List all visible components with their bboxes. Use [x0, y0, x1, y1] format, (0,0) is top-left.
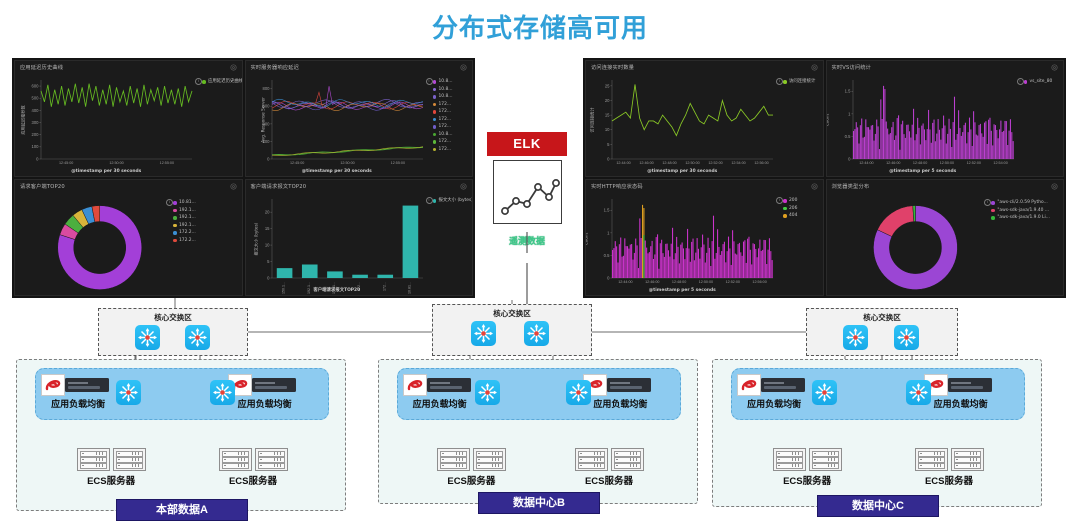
legend-item[interactable]: 172...: [433, 101, 453, 109]
svg-text:0: 0: [607, 156, 610, 161]
elk-chart-icon: [493, 160, 562, 224]
network-switch-icon[interactable]: [185, 325, 210, 350]
load-balancer[interactable]: 应用负载均衡: [403, 374, 477, 410]
svg-text:5: 5: [267, 259, 270, 264]
legend-item[interactable]: 206: [783, 205, 797, 213]
legend-label: 172...: [439, 116, 452, 124]
y-axis-label: Count: [826, 113, 830, 125]
plot-area: 010020030040050060012:45:0012:50:0012:55…: [15, 74, 242, 176]
legend-color-dot: [433, 80, 437, 84]
legend-color-dot: [783, 207, 787, 211]
legend-color-dot: [433, 95, 437, 99]
svg-text:12:44:00: 12:44:00: [618, 280, 632, 284]
legend-label: 172.2...: [179, 237, 196, 245]
legend-color-dot: [173, 216, 177, 220]
svg-text:12:55:00: 12:55:00: [160, 161, 174, 165]
elk-node[interactable]: ELK 遥测数据: [487, 132, 567, 232]
line-series: [612, 84, 773, 135]
ecs-server-group[interactable]: ECS服务器: [769, 448, 845, 487]
network-switch-icon[interactable]: [894, 325, 919, 350]
plot-area: 051015202512:44:0012:46:0012:48:0012:50:…: [586, 74, 823, 176]
legend-info-icon[interactable]: i: [776, 197, 783, 204]
chart-panel[interactable]: 实时VS访问统计00.511.512:44:0012:46:0012:48:00…: [826, 60, 1065, 177]
server-rack-icon: [219, 448, 252, 471]
svg-text:300: 300: [32, 120, 40, 125]
load-balancer-label: 应用负载均衡: [924, 397, 998, 410]
load-balancer[interactable]: 应用负载均衡: [41, 374, 115, 410]
x-axis-label: @timestamp per 5 seconds: [600, 288, 765, 293]
legend-info-icon[interactable]: i: [166, 199, 173, 206]
svg-text:1: 1: [607, 230, 610, 235]
chart-panel[interactable]: 客户端请求报文TOP2005101520150.1...192.1...192.…: [245, 179, 474, 296]
svg-text:12:46:00: 12:46:00: [645, 280, 659, 284]
legend-color-dot: [433, 118, 437, 122]
svg-text:12:52:00: 12:52:00: [708, 161, 722, 165]
ecs-server-label: ECS服务器: [73, 473, 149, 487]
x-axis-label: @timestamp per 30 seconds: [600, 169, 765, 174]
legend-item[interactable]: "aws-sdk-java/1.9.40 ...: [991, 207, 1049, 215]
plot-area: i"aws-cli/2.0.59 Pytho..."aws-sdk-java/1…: [827, 193, 1064, 295]
elk-caption: 遥测数据: [487, 234, 567, 247]
core-switch-zone-label: 核心交换区: [99, 312, 247, 323]
gear-icon[interactable]: [230, 64, 237, 71]
core-switch-zone[interactable]: 核心交换区: [806, 308, 958, 356]
panel-title: 实时服务器响应延迟: [251, 64, 300, 71]
svg-text:400: 400: [32, 108, 40, 113]
server-rack-icon: [473, 448, 506, 471]
legend-color-dot: [783, 214, 787, 218]
bar: [377, 275, 393, 278]
legend-item[interactable]: 192.1...: [173, 222, 196, 230]
legend-label: 应用延迟历史曲线: [208, 78, 243, 86]
core-switch-zone-label: 核心交换区: [807, 312, 957, 323]
datacenter-label: 数据中心B: [478, 492, 600, 514]
datacenter[interactable]: 应用负载均衡应用负载均衡ECS服务器ECS服务器: [378, 359, 698, 504]
bar: [327, 271, 343, 278]
panel-title: 实时VS访问统计: [832, 64, 872, 71]
server-rack-icon: [773, 448, 806, 471]
load-balancer-icon: [403, 374, 427, 396]
legend-item[interactable]: 172...: [433, 138, 453, 146]
gear-icon[interactable]: [460, 64, 467, 71]
chart-legend: i应用延迟历史曲线: [202, 78, 243, 86]
svg-text:12:46:00: 12:46:00: [639, 161, 653, 165]
load-balancer-label: 应用负载均衡: [228, 397, 302, 410]
load-balancer-label: 应用负载均衡: [41, 397, 115, 410]
server-rack-icon: [611, 448, 644, 471]
gear-icon[interactable]: [1051, 183, 1058, 190]
svg-text:0.5: 0.5: [844, 134, 850, 139]
datacenter-label: 本部数据A: [116, 499, 248, 521]
load-balancer-label: 应用负载均衡: [583, 397, 657, 410]
legend-label: 206: [789, 205, 797, 213]
server-rack-icon: [437, 448, 470, 471]
legend-label: 访问连接统计: [789, 78, 815, 86]
svg-text:15: 15: [605, 113, 610, 118]
legend-label: 10.81...: [179, 199, 196, 207]
svg-text:12:45:00: 12:45:00: [59, 161, 73, 165]
legend-color-dot: [173, 231, 177, 235]
panel-title: 浏览器类型分布: [832, 183, 870, 190]
legend-item[interactable]: 192.1...: [173, 214, 196, 222]
svg-text:1: 1: [848, 111, 851, 116]
legend-item[interactable]: 10.8...: [433, 93, 453, 101]
legend-info-icon[interactable]: i: [776, 78, 783, 85]
svg-text:12:50:00: 12:50:00: [699, 280, 713, 284]
load-balancer-device: [607, 378, 651, 392]
legend-item[interactable]: 172...: [433, 108, 453, 116]
chart-legend: i访问连接统计: [783, 78, 815, 86]
panel-title: 实时HTTP响应状态码: [591, 183, 643, 190]
load-balancer[interactable]: 应用负载均衡: [583, 374, 657, 410]
datacenter-label: 数据中心C: [817, 495, 939, 517]
svg-text:12:45:00: 12:45:00: [289, 161, 303, 165]
chart-panel[interactable]: 请求客户端TOP20i10.81...192.1...192.1...192.1…: [14, 179, 243, 296]
network-switch-icon[interactable]: [524, 321, 549, 346]
x-axis-label: @timestamp per 30 seconds: [260, 169, 415, 174]
svg-text:5: 5: [607, 142, 610, 147]
panel-title: 访问连接实时数量: [591, 64, 634, 71]
ecs-server-group[interactable]: ECS服务器: [215, 448, 291, 487]
chart-legend: i报文大小 (bytes): [433, 197, 473, 205]
server-rack-icon: [255, 448, 288, 471]
legend-label: 404: [789, 212, 797, 220]
svg-text:12:54:00: 12:54:00: [731, 161, 745, 165]
legend-item[interactable]: 404: [783, 212, 797, 220]
legend-label: 10.8...: [439, 78, 453, 86]
legend-item[interactable]: 应用延迟历史曲线: [202, 78, 243, 86]
bar: [352, 275, 368, 278]
load-balancer[interactable]: 应用负载均衡: [228, 374, 302, 410]
svg-text:12:48:00: 12:48:00: [662, 161, 676, 165]
legend-color-dot: [433, 110, 437, 114]
legend-color-dot: [433, 125, 437, 129]
legend-color-dot: [783, 80, 787, 84]
legend-item[interactable]: 172.2...: [173, 229, 196, 237]
chart-legend: i10.81...192.1...192.1...192.1...172.2..…: [173, 199, 196, 244]
network-switch-icon[interactable]: [135, 325, 160, 350]
legend-color-dot: [433, 140, 437, 144]
ecs-server-group[interactable]: ECS服务器: [73, 448, 149, 487]
legend-label: 10.8...: [439, 131, 453, 139]
network-switch-icon[interactable]: [210, 380, 235, 405]
legend-color-dot: [173, 209, 177, 213]
svg-text:1.5: 1.5: [844, 89, 850, 94]
legend-color-dot: [173, 239, 177, 243]
load-balancer-label: 应用负载均衡: [737, 397, 811, 410]
legend-item[interactable]: 172...: [433, 146, 453, 154]
chart-panel[interactable]: 实时HTTP响应状态码00.511.512:44:0012:46:0012:48…: [585, 179, 824, 296]
svg-text:12:56:00: 12:56:00: [754, 161, 768, 165]
svg-text:12:52:00: 12:52:00: [726, 280, 740, 284]
dashboard-left: 应用延迟历史曲线010020030040050060012:45:0012:50…: [12, 58, 475, 298]
legend-label: 172.2...: [179, 229, 196, 237]
svg-text:12:50:00: 12:50:00: [340, 161, 354, 165]
x-axis-label: @timestamp per 30 seconds: [29, 169, 184, 174]
core-switch-zone-label: 核心交换区: [433, 308, 591, 319]
network-switch-icon[interactable]: [475, 380, 500, 405]
legend-color-dot: [991, 209, 995, 213]
legend-item[interactable]: 10.81...: [173, 199, 196, 207]
x-axis-label: 客户端请求报文TOP20: [260, 287, 415, 293]
panel-title: 客户端请求报文TOP20: [251, 183, 307, 190]
legend-item[interactable]: 报文大小 (bytes): [433, 197, 473, 205]
y-axis-label: 报文大小 (bytes): [253, 222, 259, 255]
server-rack-icon: [113, 448, 146, 471]
legend-label: 200: [789, 197, 797, 205]
core-switch-zone[interactable]: 核心交换区: [432, 304, 592, 356]
legend-color-dot: [433, 199, 437, 203]
chart-panel[interactable]: 应用延迟历史曲线010020030040050060012:45:0012:50…: [14, 60, 243, 177]
legend-label: 172...: [439, 138, 452, 146]
chart-panel[interactable]: 访问连接实时数量051015202512:44:0012:46:0012:48:…: [585, 60, 824, 177]
chart-legend: i200206404: [783, 197, 797, 220]
load-balancer-device: [761, 378, 805, 392]
load-balancer-label: 应用负载均衡: [403, 397, 477, 410]
gear-icon[interactable]: [1051, 64, 1058, 71]
x-axis-label: @timestamp per 5 seconds: [841, 169, 1006, 174]
svg-text:10: 10: [264, 242, 269, 247]
ecs-server-label: ECS服务器: [911, 473, 987, 487]
network-switch-icon[interactable]: [812, 380, 837, 405]
legend-info-icon[interactable]: i: [426, 78, 433, 85]
network-switch-icon[interactable]: [116, 380, 141, 405]
chart-svg: 00.511.512:44:0012:46:0012:48:0012:50:00…: [827, 74, 1065, 177]
legend-color-dot: [1024, 80, 1028, 84]
chart-legend: i10.8...10.8...10.8...172...172...172...…: [433, 78, 453, 153]
network-switch-icon[interactable]: [906, 380, 931, 405]
svg-text:20: 20: [264, 210, 269, 215]
plot-area: 00.511.512:44:0012:46:0012:48:0012:50:00…: [827, 74, 1064, 176]
legend-label: "aws-sdk-java/1.9.40 ...: [997, 207, 1049, 215]
datacenter[interactable]: 应用负载均衡应用负载均衡ECS服务器ECS服务器: [712, 359, 1042, 507]
plot-area: 05101520150.1...192.1...192.1...172...17…: [246, 193, 473, 295]
legend-item[interactable]: 10.8...: [433, 86, 453, 94]
chart-svg: 051015202512:44:0012:46:0012:48:0012:50:…: [586, 74, 824, 177]
svg-text:15: 15: [264, 226, 269, 231]
legend-item[interactable]: "aws-sdk-java/1.9.0 Li...: [991, 214, 1049, 222]
svg-text:12:50:00: 12:50:00: [939, 161, 953, 165]
ecs-server-group[interactable]: ECS服务器: [911, 448, 987, 487]
ecs-server-group[interactable]: ECS服务器: [571, 448, 647, 487]
svg-text:0.5: 0.5: [604, 253, 610, 258]
legend-item[interactable]: 访问连接统计: [783, 78, 815, 86]
svg-text:12:52:00: 12:52:00: [966, 161, 980, 165]
network-switch-icon[interactable]: [843, 325, 868, 350]
legend-label: vs_site_80: [1030, 78, 1053, 86]
svg-text:0: 0: [36, 156, 39, 161]
legend-item[interactable]: 200: [783, 197, 797, 205]
svg-text:1.5: 1.5: [604, 208, 610, 213]
svg-text:0: 0: [267, 156, 270, 161]
legend-label: 192.1...: [179, 207, 196, 215]
donut-chart: [15, 193, 243, 296]
svg-text:12:44:00: 12:44:00: [616, 161, 630, 165]
gear-icon[interactable]: [460, 183, 467, 190]
load-balancer-device: [948, 378, 992, 392]
legend-color-dot: [991, 201, 995, 205]
chart-panel[interactable]: 实时服务器响应延迟020040060080012:45:0012:50:0012…: [245, 60, 474, 177]
legend-item[interactable]: 10.8...: [433, 131, 453, 139]
gear-icon[interactable]: [811, 64, 818, 71]
server-rack-icon: [915, 448, 948, 471]
y-axis-label: 访问连接统计: [590, 107, 596, 132]
legend-info-icon[interactable]: i: [195, 78, 202, 85]
legend-item[interactable]: 172...: [433, 123, 453, 131]
server-rack-icon: [809, 448, 842, 471]
donut-slice: [877, 206, 913, 237]
legend-color-dot: [173, 224, 177, 228]
legend-info-icon[interactable]: i: [1017, 78, 1024, 85]
legend-label: 10.8...: [439, 93, 453, 101]
legend-label: 报文大小 (bytes): [439, 197, 473, 205]
network-switch-icon[interactable]: [566, 380, 591, 405]
bar: [301, 265, 317, 278]
chart-legend: ivs_site_80: [1024, 78, 1053, 86]
core-switch-zone[interactable]: 核心交换区: [98, 308, 248, 356]
network-switch-icon[interactable]: [471, 321, 496, 346]
legend-item[interactable]: 10.8...: [433, 78, 453, 86]
legend-item[interactable]: 192.1...: [173, 207, 196, 215]
svg-text:12:54:00: 12:54:00: [993, 161, 1007, 165]
svg-text:0: 0: [848, 156, 851, 161]
load-balancer[interactable]: 应用负载均衡: [924, 374, 998, 410]
ecs-server-label: ECS服务器: [571, 473, 647, 487]
ecs-server-group[interactable]: ECS服务器: [433, 448, 509, 487]
legend-label: "aws-sdk-java/1.9.0 Li...: [997, 214, 1049, 222]
legend-label: 192.1...: [179, 222, 196, 230]
legend-label: 192.1...: [179, 214, 196, 222]
svg-text:12:55:00: 12:55:00: [390, 161, 404, 165]
svg-text:500: 500: [32, 96, 40, 101]
load-balancer-device: [427, 378, 471, 392]
svg-text:10: 10: [605, 127, 610, 132]
legend-label: 10.8...: [439, 86, 453, 94]
ecs-server-label: ECS服务器: [433, 473, 509, 487]
chart-legend: i"aws-cli/2.0.59 Pytho..."aws-sdk-java/1…: [991, 199, 1049, 222]
page-title: 分布式存储高可用: [0, 8, 1080, 45]
svg-text:12:44:00: 12:44:00: [859, 161, 873, 165]
svg-text:12:46:00: 12:46:00: [886, 161, 900, 165]
datacenter[interactable]: 应用负载均衡应用负载均衡ECS服务器ECS服务器: [16, 359, 346, 511]
svg-text:12:56:00: 12:56:00: [752, 280, 766, 284]
load-balancer-device: [65, 378, 109, 392]
legend-item[interactable]: vs_site_80: [1024, 78, 1053, 86]
server-rack-icon: [77, 448, 110, 471]
chart-svg: 05101520150.1...192.1...192.1...172...17…: [246, 193, 474, 296]
legend-color-dot: [783, 199, 787, 203]
legend-label: "aws-cli/2.0.59 Pytho...: [997, 199, 1047, 207]
legend-color-dot: [433, 88, 437, 92]
legend-label: 172...: [439, 101, 452, 109]
legend-label: 172...: [439, 123, 452, 131]
svg-text:200: 200: [32, 132, 40, 137]
elk-title: ELK: [487, 132, 567, 156]
panel-title: 应用延迟历史曲线: [20, 64, 63, 71]
legend-color-dot: [433, 103, 437, 107]
server-rack-icon: [951, 448, 984, 471]
dashboard-right: 访问连接实时数量051015202512:44:0012:46:0012:48:…: [583, 58, 1066, 298]
legend-color-dot: [173, 201, 177, 205]
ecs-server-label: ECS服务器: [769, 473, 845, 487]
plot-area: 020040060080012:45:0012:50:0012:55:00Avg…: [246, 74, 473, 176]
legend-label: 172...: [439, 108, 452, 116]
legend-color-dot: [202, 80, 206, 84]
load-balancer[interactable]: 应用负载均衡: [737, 374, 811, 410]
svg-text:600: 600: [32, 83, 40, 88]
svg-text:800: 800: [262, 86, 270, 91]
load-balancer-icon: [737, 374, 761, 396]
bar: [402, 206, 418, 278]
svg-text:12:50:00: 12:50:00: [109, 161, 123, 165]
gear-icon[interactable]: [230, 183, 237, 190]
server-rack-icon: [575, 448, 608, 471]
gear-icon[interactable]: [811, 183, 818, 190]
legend-color-dot: [433, 133, 437, 137]
svg-text:12:50:00: 12:50:00: [685, 161, 699, 165]
svg-text:25: 25: [605, 83, 610, 88]
legend-item[interactable]: "aws-cli/2.0.59 Pytho...: [991, 199, 1049, 207]
chart-svg: 010020030040050060012:45:0012:50:0012:55…: [15, 74, 243, 177]
legend-item[interactable]: 172...: [433, 116, 453, 124]
chart-panel[interactable]: 浏览器类型分布i"aws-cli/2.0.59 Pytho..."aws-sdk…: [826, 179, 1065, 296]
bar: [276, 268, 292, 278]
svg-text:20: 20: [605, 98, 610, 103]
line-chart-icon: [494, 161, 563, 225]
svg-text:0: 0: [267, 275, 270, 280]
plot-area: 00.511.512:44:0012:46:0012:48:0012:50:00…: [586, 193, 823, 295]
ecs-server-label: ECS服务器: [215, 473, 291, 487]
legend-color-dot: [433, 148, 437, 152]
load-balancer-icon: [41, 374, 65, 396]
svg-text:12:48:00: 12:48:00: [912, 161, 926, 165]
legend-info-icon[interactable]: i: [426, 197, 433, 204]
panel-title: 请求客户端TOP20: [20, 183, 65, 190]
legend-item[interactable]: 172.2...: [173, 237, 196, 245]
line-series: [41, 84, 192, 107]
svg-text:12:48:00: 12:48:00: [672, 280, 686, 284]
y-axis-label: Avg. Response Server: [260, 97, 265, 143]
y-axis-label: 应用延迟毫秒数: [21, 105, 27, 134]
plot-area: i10.81...192.1...192.1...192.1...172.2..…: [15, 193, 242, 295]
svg-text:0: 0: [607, 275, 610, 280]
y-axis-label: Count: [585, 232, 589, 244]
svg-text:100: 100: [32, 144, 40, 149]
legend-color-dot: [991, 216, 995, 220]
load-balancer-device: [252, 378, 296, 392]
legend-label: 172...: [439, 146, 452, 154]
